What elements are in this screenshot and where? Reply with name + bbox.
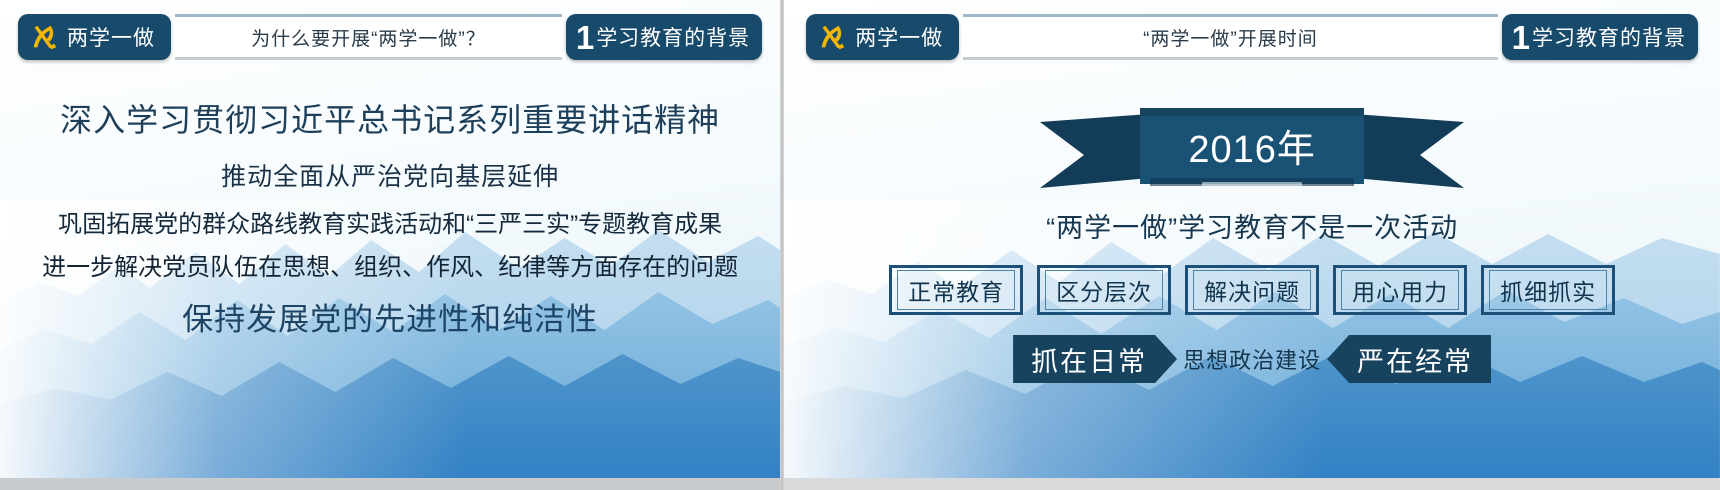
chip-label: 区分层次 <box>1045 270 1163 310</box>
brand-label-right: 两学一做 <box>855 22 943 52</box>
chip-item[interactable]: 用心用力 <box>1333 265 1467 315</box>
slide-subtitle-bar-left: 为什么要开展“两学一做”？ <box>175 14 562 60</box>
brand-badge-right[interactable]: 两学一做 <box>806 14 959 60</box>
brand-badge-left[interactable]: 两学一做 <box>18 14 171 60</box>
chip-row: 正常教育 区分层次 解决问题 用心用力 抓细抓实 <box>784 265 1720 315</box>
slide-left: 两学一做 为什么要开展“两学一做”？ 1 学习教育的背景 深入学习贯彻习近平总书… <box>0 0 780 490</box>
content-line-4: 进一步解决党员队伍在思想、组织、作风、纪律等方面存在的问题 <box>0 255 780 280</box>
section-number-right: 1 <box>1512 21 1530 54</box>
hammer-sickle-emblem-icon <box>28 22 58 52</box>
arrow-middle-label: 思想政治建设 <box>1177 343 1327 375</box>
content-line-1: 深入学习贯彻习近平总书记系列重要讲话精神 <box>0 104 780 138</box>
statement-line: “两学一做”学习教育不是一次活动 <box>784 206 1720 245</box>
arrow-left-banner[interactable]: 抓在日常 <box>1013 335 1177 383</box>
hammer-sickle-emblem-icon <box>816 22 846 52</box>
arrow-right-banner[interactable]: 严在经常 <box>1327 335 1491 383</box>
chip-label: 正常教育 <box>897 270 1015 310</box>
section-number-left: 1 <box>576 21 594 54</box>
chip-label: 用心用力 <box>1341 270 1459 310</box>
chip-item[interactable]: 区分层次 <box>1037 265 1171 315</box>
slide-subtitle-left: 为什么要开展“两学一做”？ <box>251 24 486 51</box>
slide-footer-strip-left <box>0 478 780 490</box>
arrow-right-label: 严在经常 <box>1357 340 1473 379</box>
section-tag-right[interactable]: 1 学习教育的背景 <box>1502 14 1698 60</box>
content-line-3: 巩固拓展党的群众路线教育实践活动和“三严三实”专题教育成果 <box>0 212 780 237</box>
slide-footer-strip-right <box>784 478 1720 490</box>
slide-right-content: 2016年 “两学一做”学习教育不是一次活动 正常教育 区分层次 解决问题 用心… <box>784 74 1720 383</box>
dual-slide-stage: 两学一做 为什么要开展“两学一做”？ 1 学习教育的背景 深入学习贯彻习近平总书… <box>0 0 1720 490</box>
slide-right: 两学一做 “两学一做”开展时间 1 学习教育的背景 2016 <box>784 0 1720 490</box>
content-line-5: 保持发展党的先进性和纯洁性 <box>0 304 780 337</box>
year-ribbon-banner: 2016年 <box>1032 96 1472 192</box>
chip-item[interactable]: 抓细抓实 <box>1481 265 1615 315</box>
slide-subtitle-bar-right: “两学一做”开展时间 <box>963 14 1497 60</box>
slide-header-left: 两学一做 为什么要开展“两学一做”？ 1 学习教育的背景 <box>18 14 762 60</box>
section-tag-left[interactable]: 1 学习教育的背景 <box>566 14 762 60</box>
arrow-left-label: 抓在日常 <box>1031 340 1147 379</box>
chip-item[interactable]: 解决问题 <box>1185 265 1319 315</box>
chip-label: 解决问题 <box>1193 270 1311 310</box>
chip-item[interactable]: 正常教育 <box>889 265 1023 315</box>
ribbon-year-label: 2016年 <box>1032 118 1472 173</box>
slide-subtitle-right: “两学一做”开展时间 <box>1143 24 1318 51</box>
brand-label-left: 两学一做 <box>67 22 155 52</box>
slide-left-content: 深入学习贯彻习近平总书记系列重要讲话精神 推动全面从严治党向基层延伸 巩固拓展党… <box>0 78 780 337</box>
slide-header-right: 两学一做 “两学一做”开展时间 1 学习教育的背景 <box>806 14 1698 60</box>
content-line-2: 推动全面从严治党向基层延伸 <box>0 164 780 190</box>
chip-label: 抓细抓实 <box>1489 270 1607 310</box>
section-label-right: 学习教育的背景 <box>1532 22 1686 52</box>
section-label-left: 学习教育的背景 <box>596 22 750 52</box>
arrow-row: 抓在日常 思想政治建设 严在经常 <box>784 335 1720 383</box>
